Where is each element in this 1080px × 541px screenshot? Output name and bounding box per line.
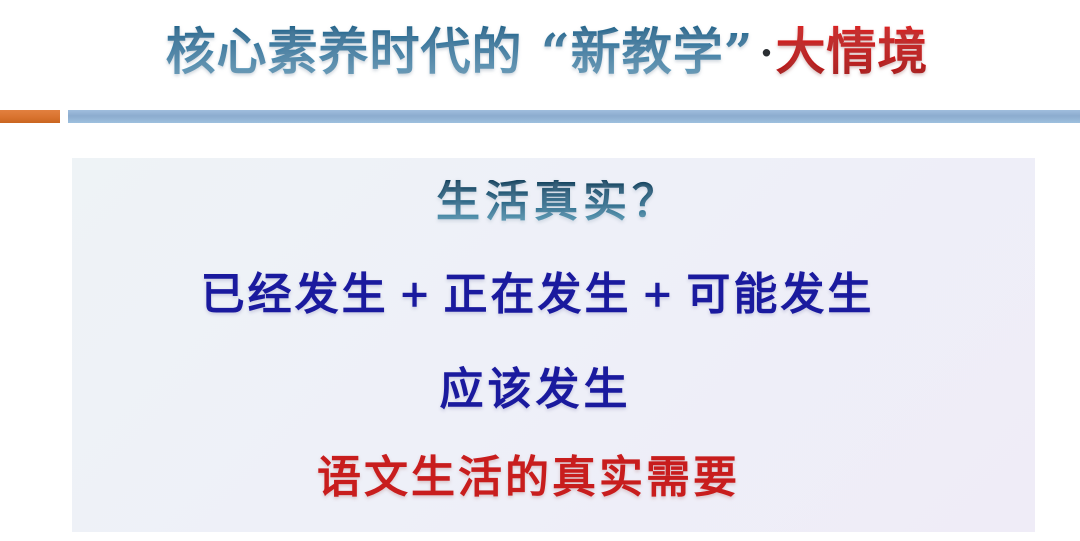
content-line-should-happen: 应该发生 xyxy=(54,368,1017,412)
formula-term-1: 已经发生 xyxy=(201,269,389,320)
formula-operator-2: + xyxy=(632,271,687,316)
slide-title: 核心素养时代的 “新教学”·大情境 xyxy=(166,27,929,77)
formula-operator-1: + xyxy=(389,271,444,316)
divider-rule-blue xyxy=(68,110,1080,123)
formula-term-3: 可能发生 xyxy=(686,269,874,320)
content-line-conclusion: 语文生活的真实需要 xyxy=(47,456,1010,500)
slide-title-highlight: 大情境 xyxy=(775,22,928,81)
divider-accent-orange xyxy=(0,110,60,123)
slide-title-separator: · xyxy=(754,30,776,77)
presentation-slide: 核心素养时代的 “新教学”·大情境 生活真实？ 已经发生+正在发生+可能发生 应… xyxy=(0,0,1080,541)
header-divider xyxy=(0,110,1080,123)
content-panel: 生活真实？ 已经发生+正在发生+可能发生 应该发生 语文生活的真实需要 xyxy=(72,158,1035,532)
content-line-question: 生活真实？ xyxy=(72,180,1040,224)
slide-header: 核心素养时代的 “新教学”·大情境 xyxy=(0,0,1080,104)
content-line-formula: 已经发生+正在发生+可能发生 xyxy=(56,273,1019,317)
slide-title-main: 核心素养时代的 “新教学” xyxy=(166,22,754,81)
formula-term-2: 正在发生 xyxy=(444,269,632,320)
content-lines: 生活真实？ 已经发生+正在发生+可能发生 应该发生 语文生活的真实需要 xyxy=(72,158,1035,532)
